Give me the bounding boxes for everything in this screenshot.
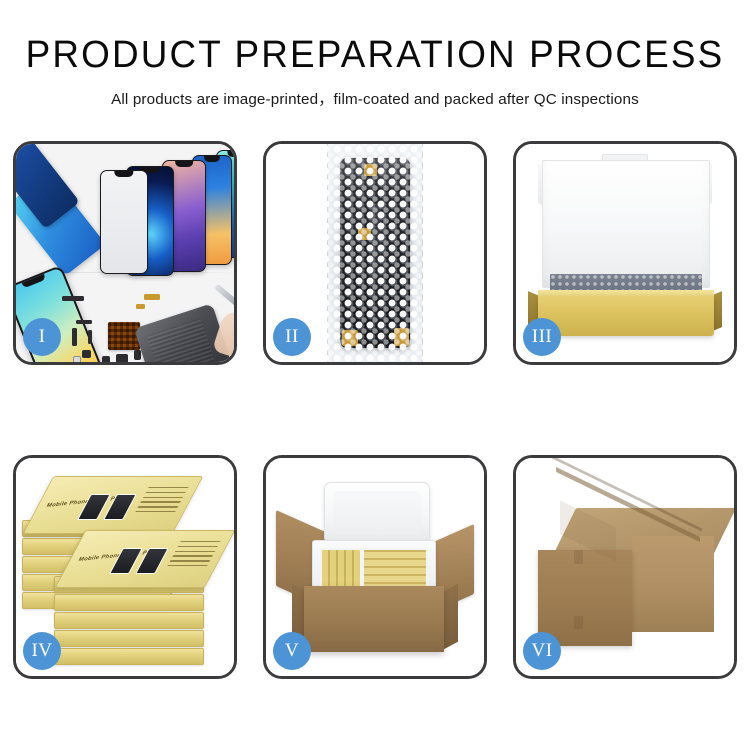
part-block-icon <box>82 350 91 358</box>
labeled-box-top: Mobile Phone Spare Parts <box>23 476 204 534</box>
packed-boxes-horizontal <box>364 550 426 590</box>
box-label-spec-lines <box>162 541 220 575</box>
chip-array-icon <box>108 322 140 350</box>
carton-front-icon <box>538 550 632 646</box>
carton-side-right <box>442 584 458 651</box>
notch-icon <box>204 156 220 162</box>
flex-cable-icon <box>88 330 92 344</box>
step-badge-5: V <box>273 632 311 670</box>
flex-cable-icon <box>72 328 77 346</box>
step-badge-3: III <box>523 318 561 356</box>
header: PRODUCT PREPARATION PROCESS All products… <box>0 0 750 109</box>
process-step-1: I <box>13 141 237 365</box>
part-block-icon <box>102 356 110 362</box>
gold-contact-icon <box>136 304 145 309</box>
step-badge-2: II <box>273 318 311 356</box>
part-strip-icon <box>62 296 84 301</box>
gold-contact-icon <box>144 294 160 300</box>
foam-lid-inset <box>333 491 421 535</box>
part-block-icon <box>134 350 141 360</box>
carton-front-icon <box>304 586 444 652</box>
tweezers-icon <box>214 284 234 310</box>
page-subtitle: All products are image-printed，film-coat… <box>0 87 750 109</box>
step-badge-6: VI <box>523 632 561 670</box>
foam-lid-icon <box>324 482 430 544</box>
part-block-icon <box>116 354 128 362</box>
white-lid-icon <box>542 160 710 288</box>
process-step-4: Mobile Phone Spare Parts Mobile Phone Sp… <box>13 455 237 679</box>
step-badge-1: I <box>23 318 61 356</box>
process-step-2: II <box>263 141 487 365</box>
step-badge-4: IV <box>23 632 61 670</box>
yellow-tray-icon <box>538 296 714 336</box>
box-layer <box>54 648 204 665</box>
box-layer <box>54 612 204 629</box>
packed-boxes-vertical <box>322 550 360 590</box>
carton-side-icon <box>632 536 714 632</box>
part-strip-icon <box>76 320 92 324</box>
labeled-box-top: Mobile Phone Spare Parts <box>55 530 234 588</box>
product-preparation-infographic: PRODUCT PREPARATION PROCESS All products… <box>0 0 750 750</box>
process-step-6: VI <box>513 455 737 679</box>
phone-display-2-icon <box>100 170 148 274</box>
page-title: PRODUCT PREPARATION PROCESS <box>11 36 739 76</box>
speaker-module-icon <box>107 292 128 313</box>
housing-detail <box>147 318 217 362</box>
notch-icon <box>114 171 133 177</box>
process-step-5: V <box>263 455 487 679</box>
notch-icon <box>175 161 193 167</box>
sim-tray-icon <box>73 356 81 362</box>
process-step-3: III <box>513 141 737 365</box>
box-layer <box>54 630 204 647</box>
box-layer <box>54 594 204 611</box>
carton-flap-mark <box>574 550 583 564</box>
carton-flap-mark <box>574 616 583 629</box>
notch-icon <box>22 274 47 289</box>
box-label-spec-lines <box>130 487 188 521</box>
process-step-grid: I II <box>13 141 737 686</box>
